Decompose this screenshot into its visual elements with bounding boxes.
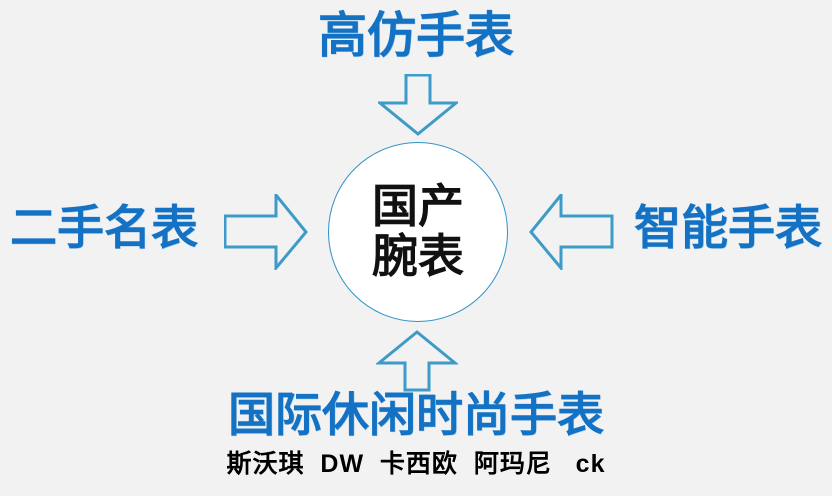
arrow-right-icon (224, 194, 308, 270)
arrow-left-icon (528, 194, 614, 270)
arrow-down-icon (378, 74, 458, 136)
arrow-up-icon (376, 330, 458, 392)
node-label-left: 二手名表 (10, 204, 198, 251)
watch-category-diagram: 高仿手表 二手名表 国产 腕表 智能手表 国际休闲时尚手表 斯沃琪 DW 卡西欧… (0, 0, 832, 496)
node-label-bottom: 国际休闲时尚手表 (0, 391, 832, 438)
center-node-circle: 国产 腕表 (328, 142, 508, 322)
brand-list: 斯沃琪 DW 卡西欧 阿玛尼 ck (0, 452, 832, 477)
center-label-line1: 国产 (372, 182, 464, 232)
center-label-line2: 腕表 (372, 232, 464, 282)
node-label-right: 智能手表 (634, 204, 822, 251)
node-label-top: 高仿手表 (0, 12, 832, 61)
